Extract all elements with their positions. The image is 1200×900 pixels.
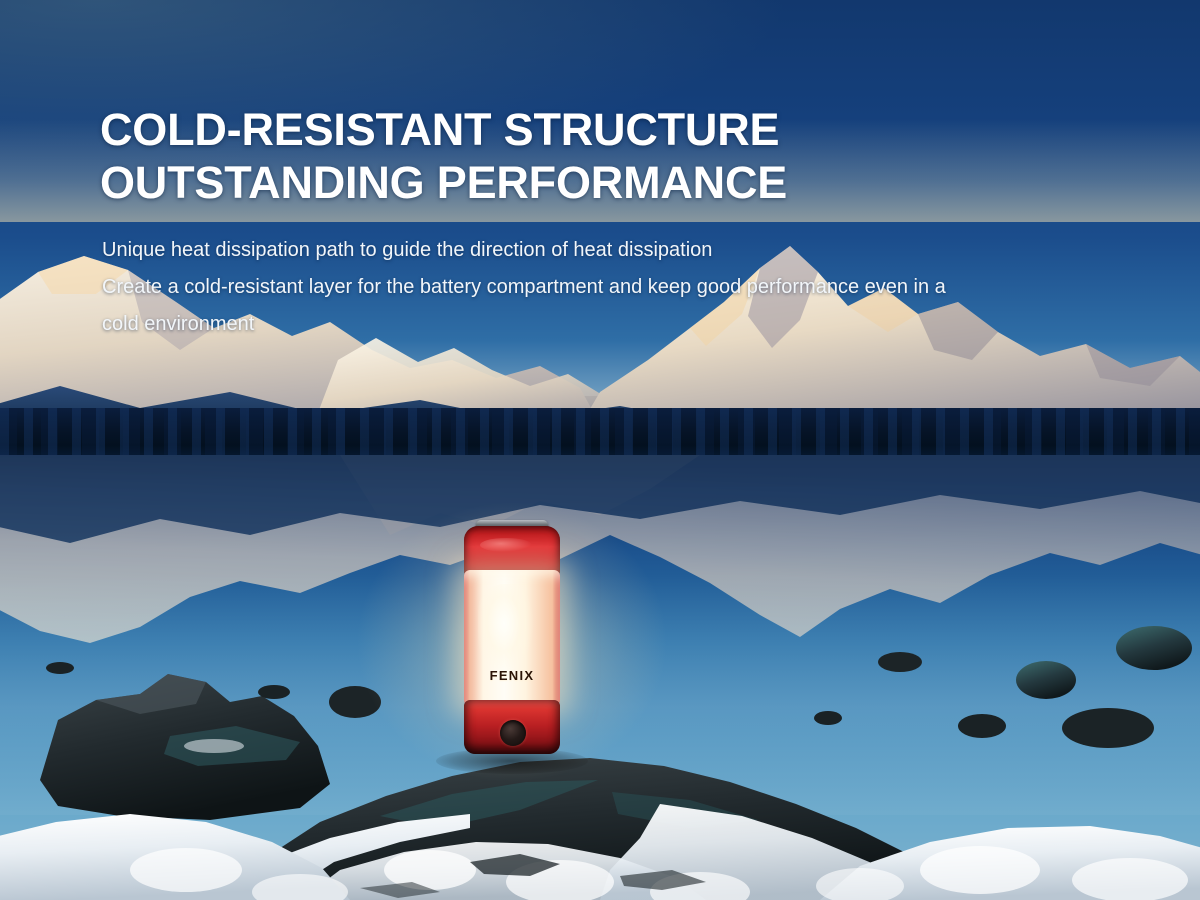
shoreline-band xyxy=(0,408,1200,460)
headline-line-1: COLD-RESISTANT STRUCTURE xyxy=(100,104,920,157)
lantern-base xyxy=(464,700,560,754)
page-title: COLD-RESISTANT STRUCTURE OUTSTANDING PER… xyxy=(100,104,920,209)
product-banner: FENIX COLD-RESISTANT STRUCTURE OUTSTANDI… xyxy=(0,0,1200,900)
body-line-3: cold environment xyxy=(102,306,1062,343)
fenix-lantern-product: FENIX xyxy=(458,520,566,760)
shoreline-texture xyxy=(0,408,1200,460)
body-line-2: Create a cold-resistant layer for the ba… xyxy=(102,269,1062,306)
power-button[interactable] xyxy=(500,720,526,746)
foreground-snow-rock xyxy=(0,570,1200,900)
headline-line-2: OUTSTANDING PERFORMANCE xyxy=(100,157,920,210)
lantern-diffuser xyxy=(464,570,560,706)
description-text: Unique heat dissipation path to guide th… xyxy=(102,232,1062,343)
cap-highlight xyxy=(480,538,532,552)
body-line-1: Unique heat dissipation path to guide th… xyxy=(102,232,1062,269)
brand-logo: FENIX xyxy=(458,668,566,683)
